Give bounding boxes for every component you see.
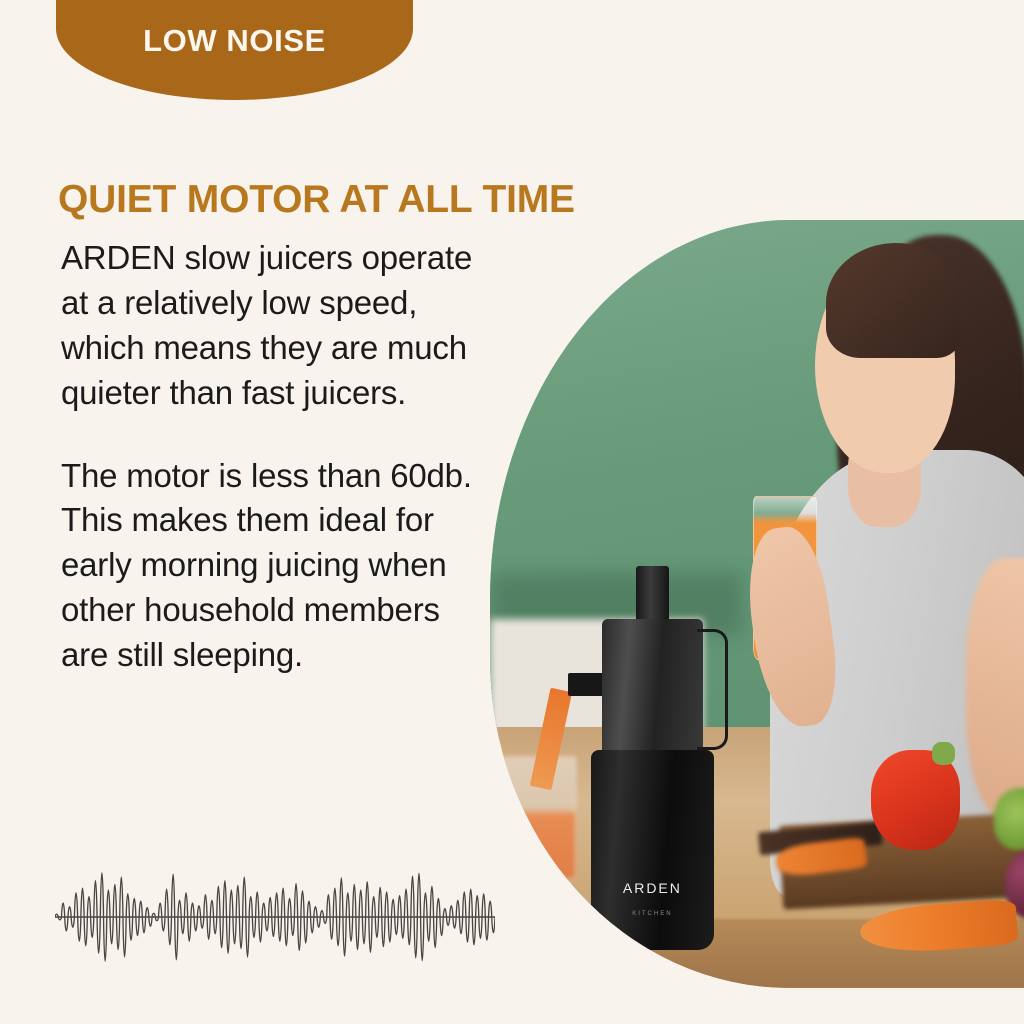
badge-label: LOW NOISE: [143, 25, 326, 56]
juicer-feed-chute: [636, 566, 670, 627]
photo-inner: ARDEN KITCHEN: [490, 220, 1024, 988]
juicer-handle: [697, 629, 728, 750]
pepper-stem: [932, 742, 954, 765]
audio-waveform-graphic: [55, 845, 495, 990]
low-noise-badge: LOW NOISE: [56, 0, 413, 100]
juicer-brand-label: ARDEN: [591, 880, 714, 896]
paragraph-2: The motor is less than 60db. This makes …: [61, 454, 491, 678]
waveform-svg: [55, 845, 495, 990]
lifestyle-photo: ARDEN KITCHEN: [490, 220, 1024, 988]
page-title: QUIET MOTOR AT ALL TIME: [58, 180, 678, 221]
juicer-base: [591, 750, 714, 950]
body-copy: ARDEN slow juicers operate at a relative…: [61, 236, 491, 678]
poster-canvas: LOW NOISE QUIET MOTOR AT ALL TIME ARDEN …: [0, 0, 1024, 1024]
woman-hair-front: [826, 243, 960, 358]
paragraph-1: ARDEN slow juicers operate at a relative…: [61, 236, 491, 416]
woman-right-arm: [966, 558, 1024, 819]
juicer-subbrand-label: KITCHEN: [591, 911, 714, 917]
